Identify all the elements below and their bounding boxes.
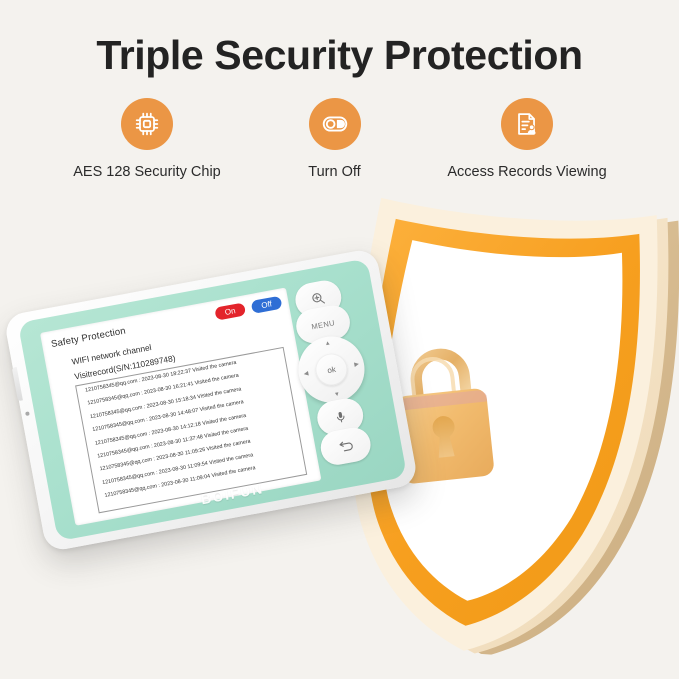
ok-button[interactable]: ok <box>313 351 350 388</box>
microphone-icon <box>333 409 348 424</box>
feature-item-access-records: Access Records Viewing <box>415 98 640 180</box>
return-arrow-icon <box>336 439 355 454</box>
toggle-switch-icon <box>309 98 361 150</box>
on-button[interactable]: On <box>214 302 246 320</box>
document-person-icon <box>501 98 553 150</box>
feature-row: AES 128 Security Chip Turn Off <box>0 98 679 180</box>
monitor-screen: Safety Protection On Off WIFI network ch… <box>40 287 322 525</box>
feature-label: Access Records Viewing <box>447 164 606 180</box>
screen-title: Safety Protection <box>50 325 126 350</box>
dpad-down[interactable]: ▼ <box>334 391 341 398</box>
dpad-up[interactable]: ▲ <box>324 340 331 347</box>
screen-toggle-buttons: On Off <box>214 296 282 321</box>
dpad-right[interactable]: ▶ <box>354 361 360 369</box>
magnifier-icon <box>310 291 326 307</box>
off-button[interactable]: Off <box>251 296 283 314</box>
dpad[interactable]: ▲ ▼ ◀ ▶ ok <box>293 331 370 408</box>
feature-label: AES 128 Security Chip <box>73 164 221 180</box>
dpad-left[interactable]: ◀ <box>303 370 309 378</box>
feature-item-turn-off: Turn Off <box>255 98 415 180</box>
cpu-chip-icon <box>121 98 173 150</box>
page-title: Triple Security Protection <box>0 32 679 79</box>
feature-item-security-chip: AES 128 Security Chip <box>40 98 255 180</box>
promo-banner: Triple Security Protection AES 128 Secur… <box>0 0 679 679</box>
